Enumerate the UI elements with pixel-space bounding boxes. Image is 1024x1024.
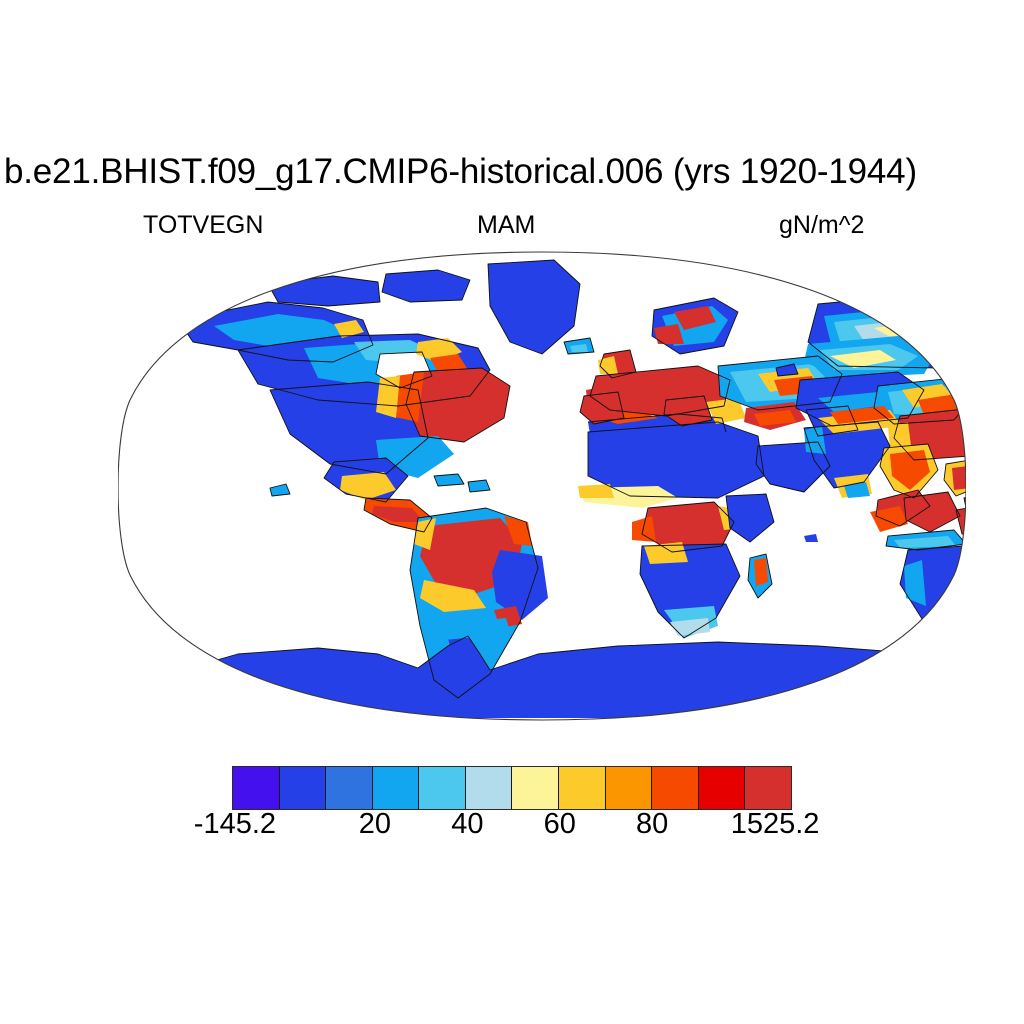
colorbar-band-5	[466, 767, 513, 809]
colorbar-tick-2: 40	[451, 806, 483, 842]
colorbar-bands[interactable]	[232, 766, 792, 810]
colorbar-band-11	[745, 767, 791, 809]
figure-canvas: b.e21.BHIST.f09_g17.CMIP6-historical.006…	[0, 0, 1024, 1024]
units-label: gN/m^2	[779, 210, 864, 240]
colorbar-band-3	[373, 767, 420, 809]
variable-label: TOTVEGN	[143, 210, 263, 240]
map-plot	[118, 250, 966, 724]
colorbar-tick-0: -145.2	[194, 806, 276, 842]
colorbar-tick-4: 80	[636, 806, 668, 842]
colorbar-tick-5: 1525.2	[731, 806, 820, 842]
colorbar-band-4	[419, 767, 466, 809]
colorbar-band-7	[559, 767, 606, 809]
colorbar-tick-1: 20	[359, 806, 391, 842]
season-label: MAM	[477, 210, 535, 240]
colorbar-band-1	[280, 767, 327, 809]
colorbar-band-0	[233, 767, 280, 809]
page-title: b.e21.BHIST.f09_g17.CMIP6-historical.006…	[4, 152, 1024, 192]
colorbar-band-6	[512, 767, 559, 809]
colorbar-tick-3: 60	[544, 806, 576, 842]
colorbar[interactable]	[232, 766, 792, 810]
colorbar-band-2	[326, 767, 373, 809]
world-map-raster	[118, 250, 966, 724]
colorbar-tick-labels: -145.2204060801525.2	[150, 806, 910, 846]
colorbar-band-10	[699, 767, 746, 809]
colorbar-band-8	[606, 767, 653, 809]
colorbar-band-9	[652, 767, 699, 809]
